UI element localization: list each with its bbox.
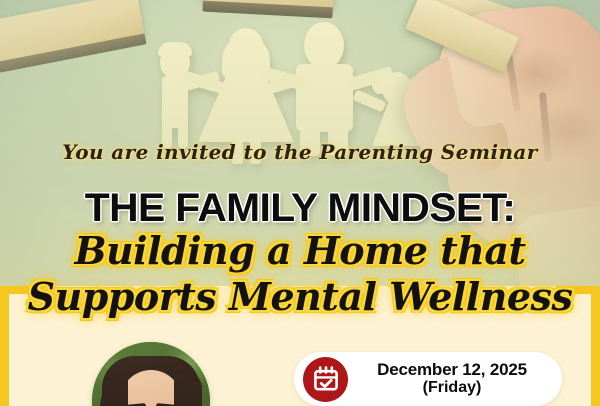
seminar-poster: You are invited to the Parenting Seminar…: [0, 0, 600, 406]
subtitle-line-1: Building a Home that: [0, 228, 600, 274]
event-date-text: December 12, 2025 (Friday): [348, 361, 562, 397]
subtitle-line-2: Supports Mental Wellness: [0, 274, 600, 320]
speaker-avatar: [92, 342, 210, 406]
page-title: THE FAMILY MINDSET:: [0, 186, 600, 230]
calendar-check-icon: [303, 357, 348, 402]
invitation-kicker: You are invited to the Parenting Seminar: [0, 140, 600, 164]
seminar-subtitle: Building a Home that Supports Mental Wel…: [0, 228, 600, 320]
event-date-line-2: (Friday): [348, 379, 556, 397]
event-date-line-1: December 12, 2025: [348, 361, 556, 379]
event-date-pill: December 12, 2025 (Friday): [294, 352, 562, 406]
